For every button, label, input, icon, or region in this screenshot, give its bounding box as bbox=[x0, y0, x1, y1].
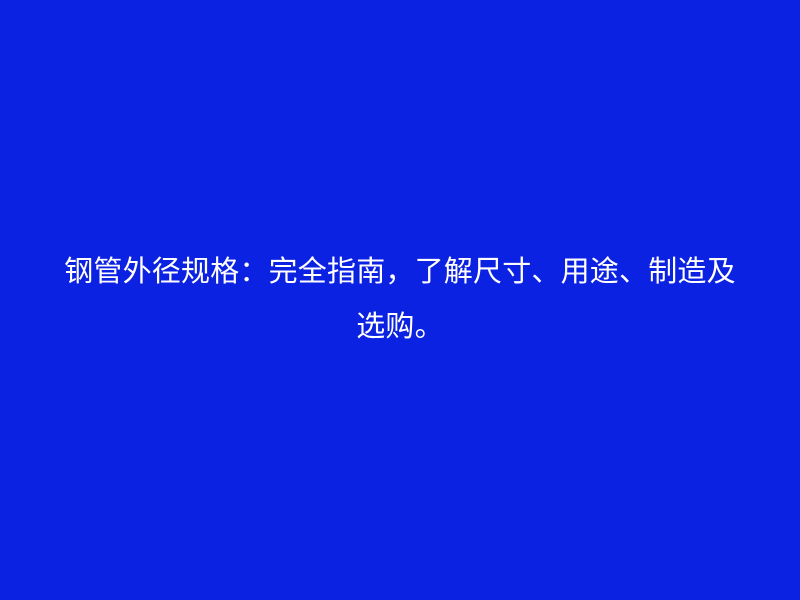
title-block: 钢管外径规格：完全指南，了解尺寸、用途、制造及选购。 bbox=[50, 245, 750, 355]
page-title: 钢管外径规格：完全指南，了解尺寸、用途、制造及选购。 bbox=[50, 245, 750, 355]
title-card: 钢管外径规格：完全指南，了解尺寸、用途、制造及选购。 bbox=[0, 0, 800, 600]
